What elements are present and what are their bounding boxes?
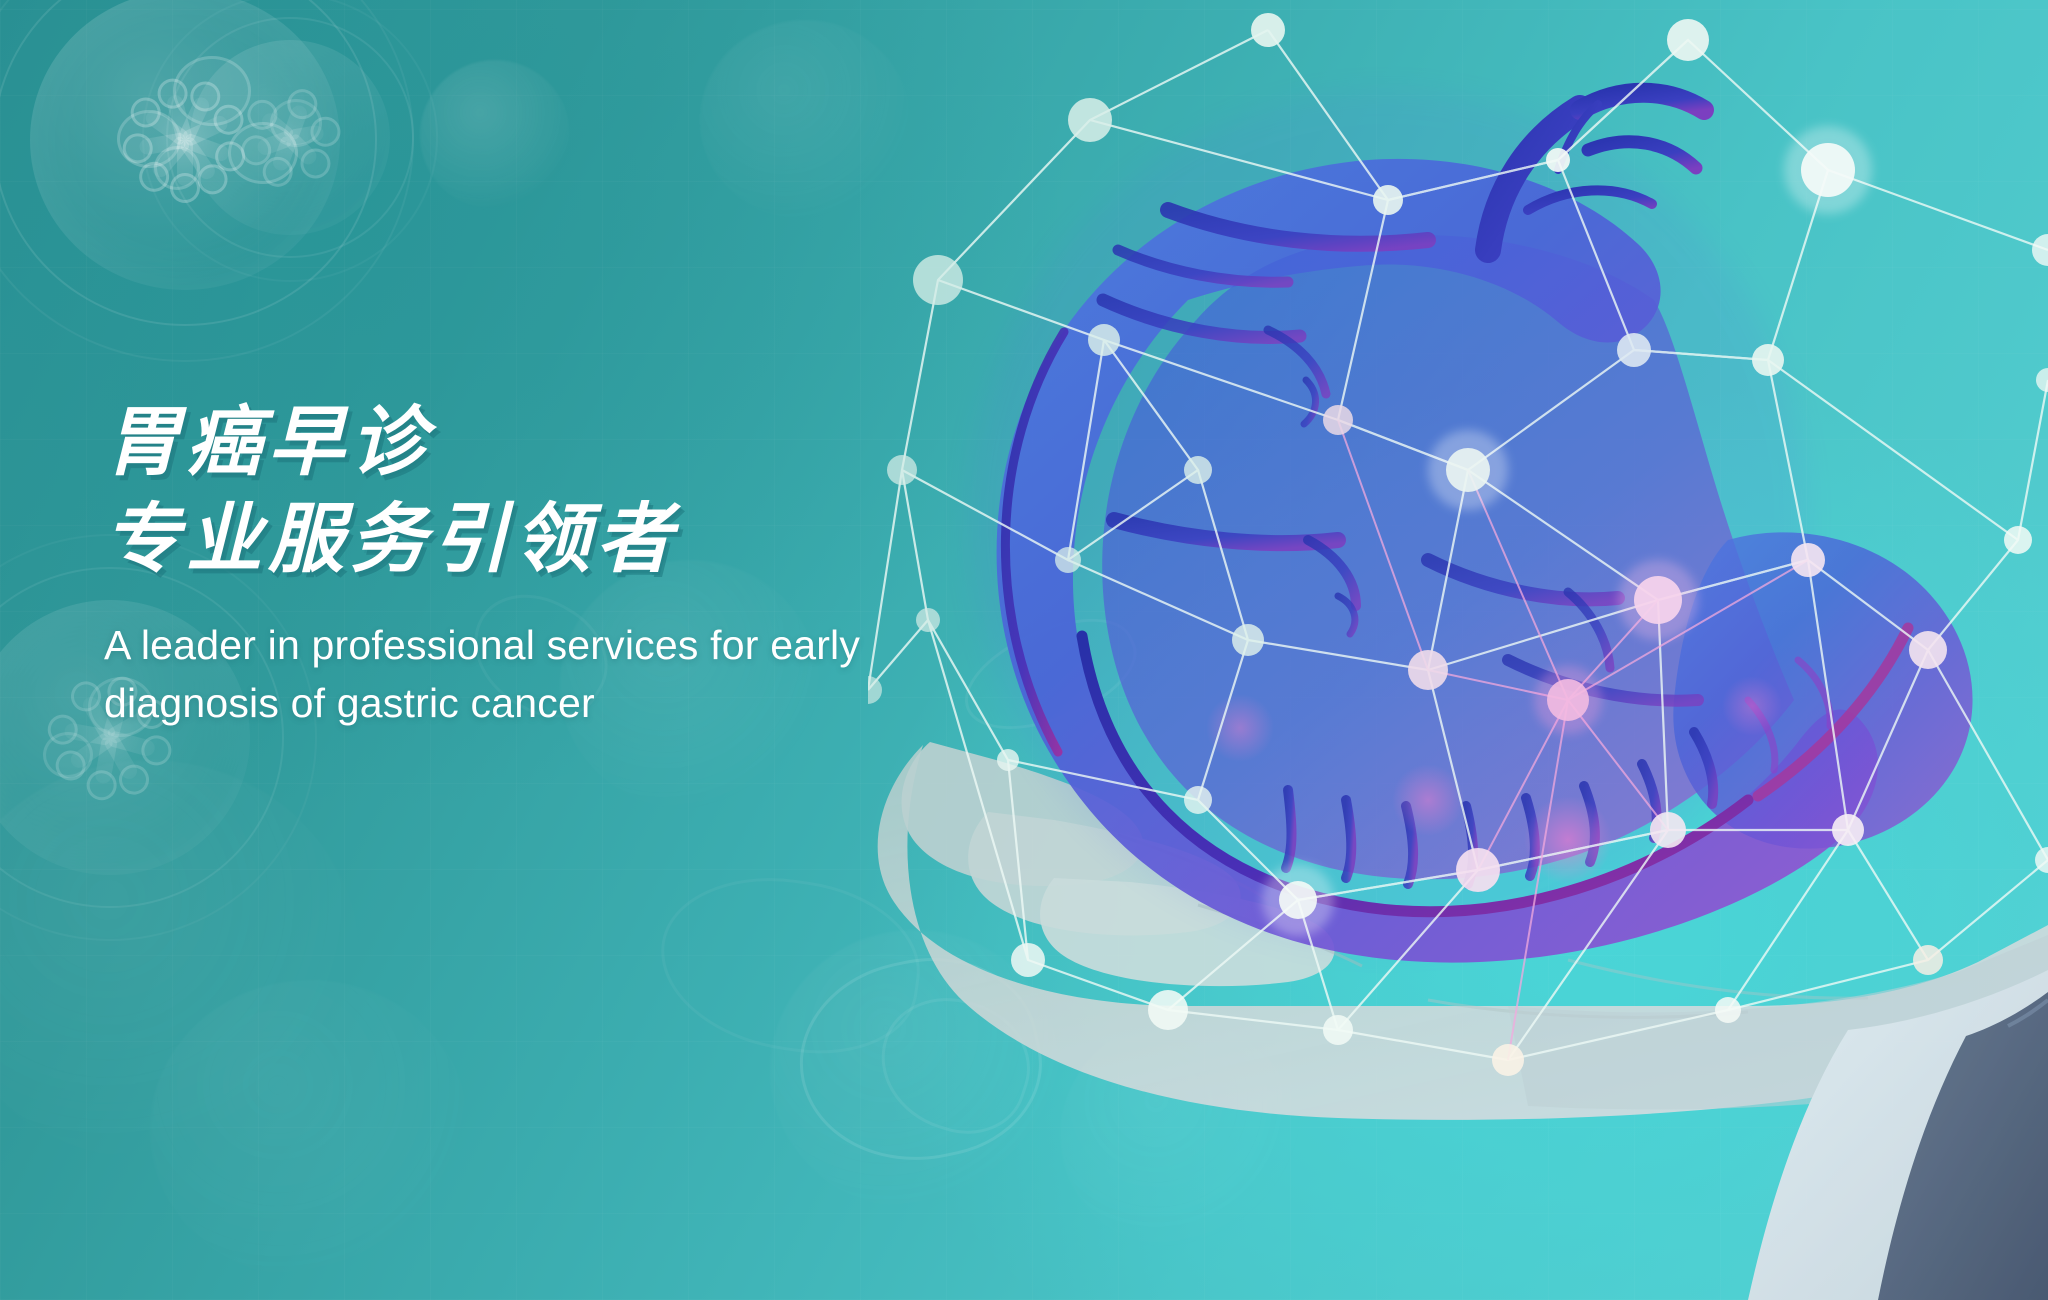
virus-icon (30, 0, 340, 290)
page-title: 胃癌早诊 专业服务引领者 (104, 400, 1154, 582)
virus-icon (190, 40, 390, 235)
cell-blob (420, 60, 570, 210)
hero-subtitle: A leader in professional services for ea… (104, 616, 1114, 732)
headline-line-1: 胃癌早诊 (104, 400, 432, 485)
hero-copy: 胃癌早诊 专业服务引领者 A leader in professional se… (104, 400, 1154, 733)
cell-blob (150, 980, 470, 1280)
hero-banner: 胃癌早诊 专业服务引领者 A leader in professional se… (0, 0, 2048, 1300)
subtitle-line-2: diagnosis of gastric cancer (104, 680, 595, 726)
cell-blob (0, 760, 360, 1160)
headline-line-2: 专业服务引领者 (104, 497, 1154, 582)
subtitle-line-1: A leader in professional services for ea… (104, 622, 860, 668)
